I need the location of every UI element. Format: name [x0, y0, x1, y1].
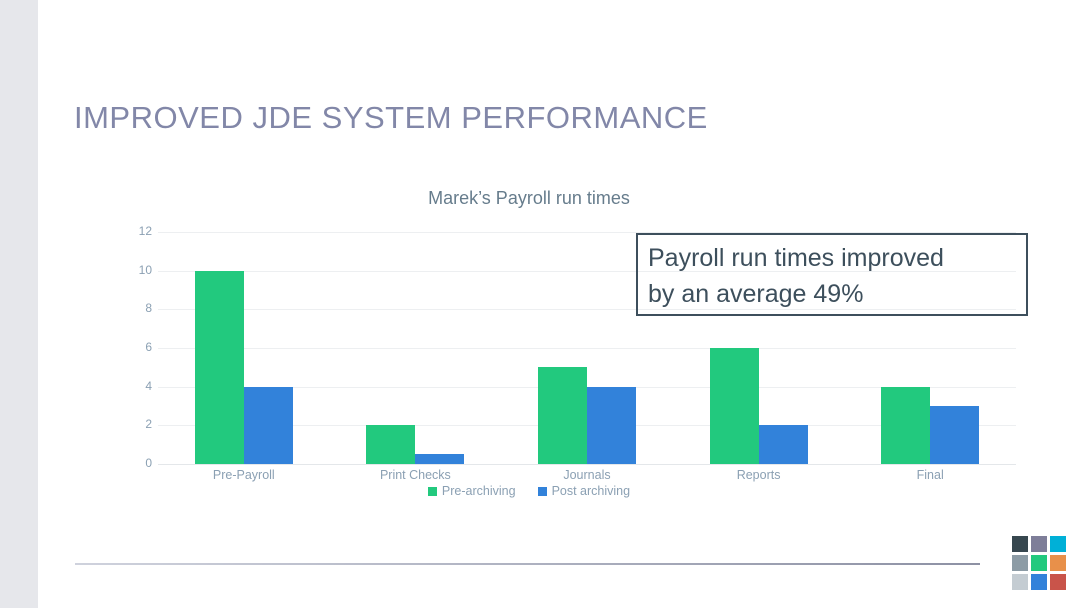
chart-legend: Pre-archivingPost archiving	[74, 484, 984, 498]
callout-line-2: by an average 49%	[648, 276, 1016, 312]
logo-cell-light-gray	[1012, 574, 1028, 590]
legend-swatch-icon	[538, 487, 547, 496]
x-label-final: Final	[844, 468, 1016, 482]
y-tick-label-4: 4	[122, 379, 152, 393]
x-label-print-checks: Print Checks	[330, 468, 502, 482]
logo-cell-gray	[1012, 555, 1028, 571]
x-label-pre-payroll: Pre-Payroll	[158, 468, 330, 482]
gridline-0	[158, 464, 1016, 465]
bar-post-archiving-journals	[587, 387, 636, 464]
y-tick-label-8: 8	[122, 301, 152, 315]
logo-cell-blue	[1031, 574, 1047, 590]
y-axis-tick-labels: 024681012	[116, 232, 152, 464]
logo-cell-orange	[1050, 555, 1066, 571]
bar-post-archiving-reports	[759, 425, 808, 464]
bar-pre-archiving-pre-payroll	[195, 271, 244, 464]
y-tick-label-0: 0	[122, 456, 152, 470]
bar-pre-archiving-journals	[538, 367, 587, 464]
legend-label: Pre-archiving	[442, 484, 516, 498]
y-tick-label-6: 6	[122, 340, 152, 354]
bar-pre-archiving-final	[881, 387, 930, 464]
page-title: IMPROVED JDE SYSTEM PERFORMANCE	[74, 100, 708, 136]
x-label-journals: Journals	[501, 468, 673, 482]
logo-cell-red	[1050, 574, 1066, 590]
legend-item: Post archiving	[538, 484, 631, 498]
callout-box: Payroll run times improved by an average…	[636, 233, 1028, 316]
legend-swatch-icon	[428, 487, 437, 496]
y-tick-label-2: 2	[122, 417, 152, 431]
bar-post-archiving-final	[930, 406, 979, 464]
legend-item: Pre-archiving	[428, 484, 516, 498]
legend-label: Post archiving	[552, 484, 631, 498]
x-label-reports: Reports	[673, 468, 845, 482]
bar-group	[195, 232, 293, 464]
slide-canvas: IMPROVED JDE SYSTEM PERFORMANCE Marek’s …	[0, 0, 1080, 608]
left-decorative-strip	[0, 0, 38, 608]
logo-cell-gray-purple	[1031, 536, 1047, 552]
footer-divider	[75, 563, 980, 565]
logo-cell-dark-slate	[1012, 536, 1028, 552]
y-tick-label-12: 12	[122, 224, 152, 238]
logo-cell-green	[1031, 555, 1047, 571]
callout-line-1: Payroll run times improved	[648, 240, 1016, 276]
bar-post-archiving-pre-payroll	[244, 387, 293, 464]
company-logo	[1012, 536, 1066, 590]
bar-post-archiving-print-checks	[415, 454, 464, 464]
logo-cell-cyan	[1050, 536, 1066, 552]
bar-group	[538, 232, 636, 464]
bar-pre-archiving-reports	[710, 348, 759, 464]
y-tick-label-10: 10	[122, 263, 152, 277]
bar-pre-archiving-print-checks	[366, 425, 415, 464]
bar-group	[366, 232, 464, 464]
chart-title: Marek’s Payroll run times	[74, 188, 984, 209]
